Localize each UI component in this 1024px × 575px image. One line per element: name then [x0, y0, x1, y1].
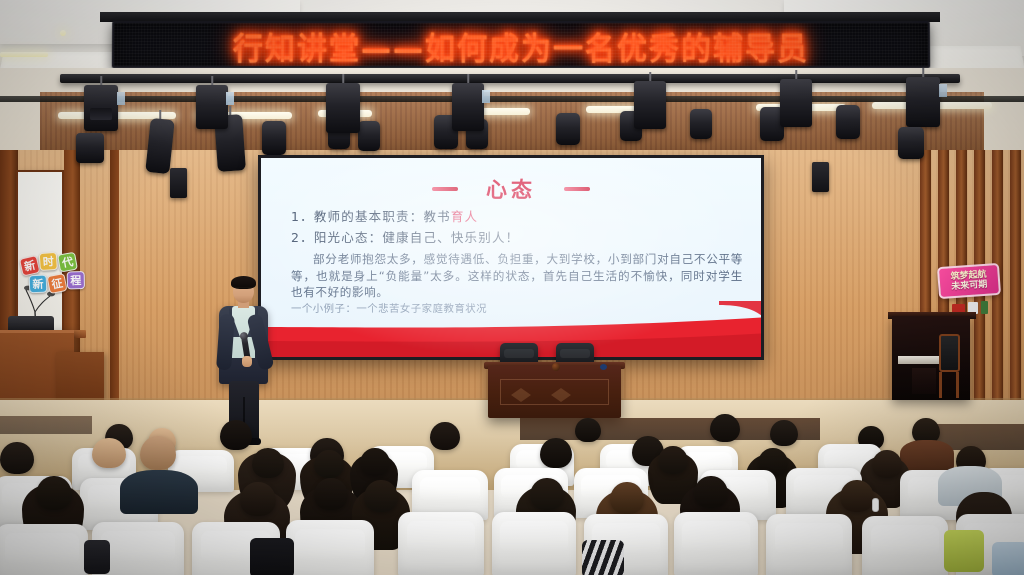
audience-shoulders	[900, 440, 954, 472]
decor-tile-6: 程	[67, 271, 85, 289]
audience-head	[658, 446, 688, 474]
slide-title: 心态	[486, 174, 536, 204]
table-object	[600, 364, 607, 370]
chair-leg-left	[939, 372, 942, 398]
audience-seat	[398, 512, 484, 575]
ceiling-speaker-left	[170, 168, 187, 198]
audience-seat	[492, 512, 576, 575]
audience-garment	[992, 542, 1024, 575]
decor-sign-right-line2: 未来可期	[951, 280, 988, 293]
audience-head	[314, 450, 344, 478]
slide-bullet-2-text: 2．阳光心态：健康自己、快乐别人！	[291, 230, 519, 245]
audience-head	[220, 420, 252, 450]
audience-head	[364, 480, 398, 512]
wall-divider-2	[110, 150, 119, 412]
ceiling-speaker-right	[812, 162, 829, 192]
audience-seat	[674, 512, 758, 575]
slide-bullet-1: 1．教师的基本职责：教书育人	[291, 206, 743, 227]
decor-sign-right: 筑梦起航 未来可期	[937, 263, 1001, 299]
decor-tile-char: 时	[42, 253, 54, 270]
slide-bullet-2: 2．阳光心态：健康自己、快乐别人！	[291, 227, 743, 248]
ceiling-light-1	[0, 52, 48, 57]
audience-shoulders	[120, 470, 198, 514]
audience-garment	[582, 540, 624, 575]
ceiling-light-2	[60, 30, 66, 36]
decor-tile-2: 时	[39, 252, 58, 271]
audience-garment	[250, 538, 294, 575]
audience-seat	[286, 520, 374, 575]
conference-table	[488, 366, 621, 418]
audience-head	[770, 420, 798, 446]
piano-bench	[912, 368, 936, 394]
lecture-hall-photo: 行知讲堂——如何成为一名优秀的辅导员	[0, 0, 1024, 575]
glasses-icon	[234, 287, 253, 292]
audience-head	[872, 450, 902, 478]
audience-head	[140, 436, 176, 470]
slide-title-row: 心态	[261, 174, 761, 204]
slide-bullet-1-text: 1．教师的基本职责：教书	[291, 209, 451, 224]
slide-paragraph: 部分老师抱怨太多，感觉待遇低、负担重，大到学校，小到部门对自己不公平等等，也就是…	[291, 251, 743, 301]
table-front-panel	[500, 379, 609, 405]
audience-head	[694, 476, 728, 508]
chair-leg-right	[956, 372, 959, 398]
decor-tile-char: 征	[50, 275, 64, 293]
table-diamond-right	[551, 388, 591, 402]
chair-backrest	[939, 334, 960, 372]
audience-seat	[0, 524, 88, 575]
led-banner-text: 行知讲堂——如何成为一名优秀的辅导员	[114, 23, 928, 66]
audience-head	[430, 422, 460, 450]
audience-head	[540, 438, 572, 468]
hair-clip-icon	[872, 498, 879, 512]
lighting-truss-rear	[0, 96, 1024, 102]
projection-screen-frame: 心态 1．教师的基本职责：教书育人 2．阳光心态：健康自己、快乐别人！ 部分老师…	[258, 155, 764, 360]
projection-screen: 心态 1．教师的基本职责：教书育人 2．阳光心态：健康自己、快乐别人！ 部分老师…	[261, 158, 761, 357]
audience-seat	[766, 514, 852, 575]
audience	[0, 412, 1024, 575]
decor-tile-char: 代	[61, 253, 75, 271]
slide-title-dash-right	[564, 187, 590, 191]
slide-title-dash-left	[432, 187, 458, 191]
decor-tile-char: 新	[32, 276, 44, 292]
audience-head	[360, 448, 390, 476]
audience-head	[240, 482, 276, 516]
decor-tile-char: 程	[70, 272, 81, 288]
led-banner: 行知讲堂——如何成为一名优秀的辅导员	[112, 21, 930, 68]
audience-seat	[862, 516, 948, 575]
table-diamond-left	[511, 388, 551, 402]
audience-head	[36, 476, 72, 510]
decor-tile-3: 代	[57, 252, 78, 273]
decor-tile-4: 新	[29, 275, 48, 294]
rear-wall-base-left	[0, 416, 92, 434]
wooden-chair	[936, 334, 962, 398]
audience-head	[0, 442, 34, 474]
audience-garment	[84, 540, 110, 574]
slide-bullet-1-highlight: 育人	[451, 209, 478, 224]
audience-head	[575, 418, 601, 442]
audience-head	[314, 478, 348, 510]
decor-sign-left: 新 时 代 新 征 程	[19, 248, 86, 301]
audience-head	[840, 480, 874, 512]
audience-head	[92, 438, 126, 468]
decor-tile-5: 征	[47, 273, 68, 294]
audience-head	[252, 448, 284, 478]
audience-garment	[944, 530, 984, 572]
presenter-hand	[242, 356, 252, 367]
decor-tile-1: 新	[19, 255, 41, 277]
audience-head	[530, 478, 564, 510]
pillar-6	[1010, 150, 1021, 415]
slide-note: 一个小例子：一个悲苦女子家庭教育状况	[291, 302, 743, 316]
shelf-bottle	[981, 301, 988, 314]
audience-head	[610, 482, 644, 514]
audience-head	[710, 414, 740, 442]
decor-tile-char: 新	[23, 257, 37, 275]
table-microphone	[552, 363, 560, 371]
slide-body: 1．教师的基本职责：教书育人 2．阳光心态：健康自己、快乐别人！ 部分老师抱怨太…	[291, 206, 743, 316]
lighting-truss	[60, 74, 960, 83]
